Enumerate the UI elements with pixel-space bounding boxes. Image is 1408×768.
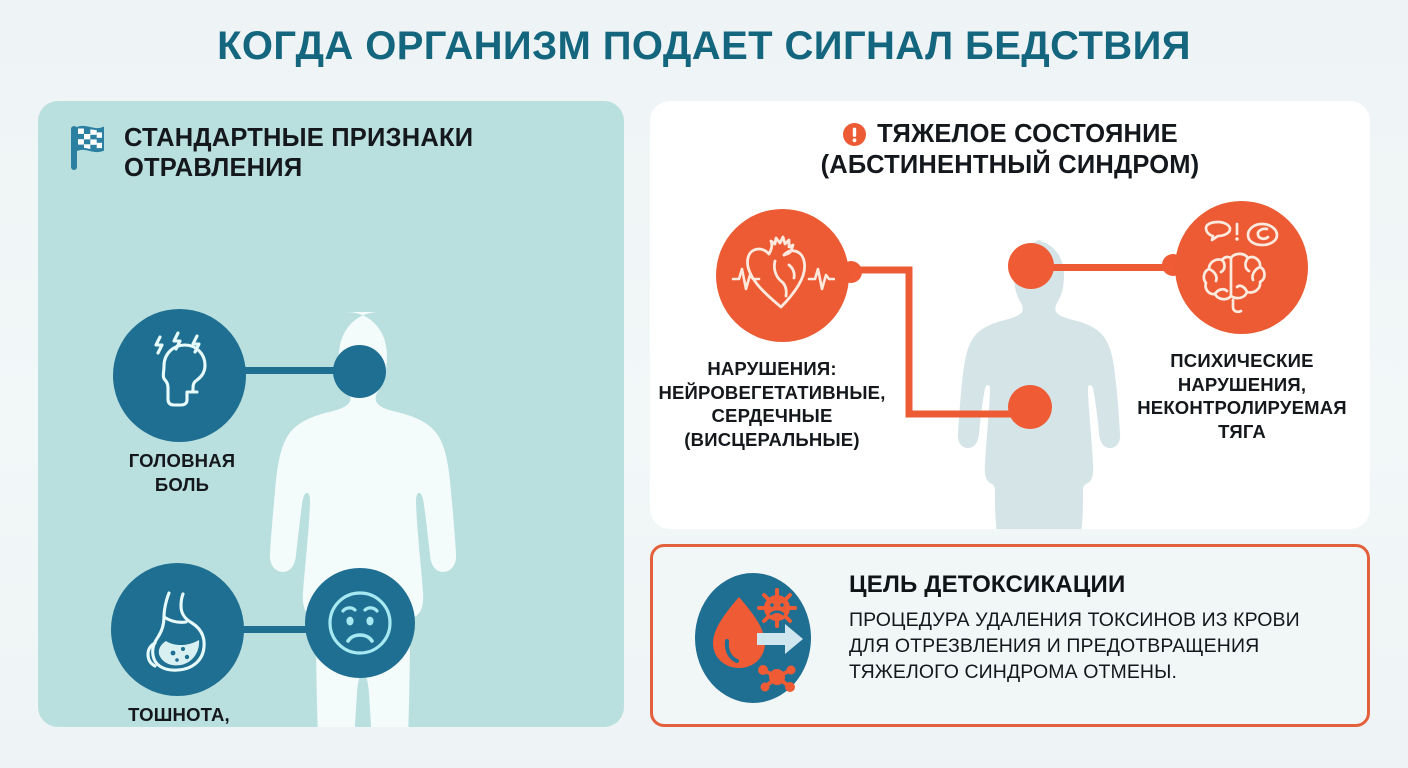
- right-panel-header: ТЯЖЕЛОЕ СОСТОЯНИЕ (АБСТИНЕНТНЫЙ СИНДРОМ): [650, 119, 1370, 180]
- body-marker-sad-face: [305, 568, 415, 678]
- sad-face-icon: [321, 584, 399, 662]
- icon-bubble-headache[interactable]: [113, 309, 246, 442]
- connector-brain: [1050, 260, 1176, 274]
- left-panel-header-text: СТАНДАРТНЫЕ ПРИЗНАКИ ОТРАВЛЕНИЯ: [124, 123, 473, 183]
- body-marker-head-right: [1008, 243, 1054, 289]
- detox-title: ЦЕЛЬ ДЕТОКСИКАЦИИ: [849, 571, 1354, 599]
- infographic-canvas: КОГДА ОРГАНИЗМ ПОДАЕТ СИГНАЛ БЕДСТВИЯ: [0, 0, 1408, 768]
- right-panel-header-line1: ТЯЖЕЛОЕ СОСТОЯНИЕ: [877, 119, 1178, 150]
- icon-bubble-brain[interactable]: [1175, 201, 1308, 334]
- panel-standard-poisoning-signs: СТАНДАРТНЫЕ ПРИЗНАКИ ОТРАВЛЕНИЯ ГОЛОВНАЯ…: [38, 101, 624, 727]
- brain-thoughts-icon: [1192, 220, 1292, 316]
- blood-drop-detox-icon: [695, 573, 811, 703]
- panel-severe-condition: ТЯЖЕЛОЕ СОСТОЯНИЕ (АБСТИНЕНТНЫЙ СИНДРОМ): [650, 101, 1370, 529]
- checkered-flag-icon: [68, 123, 110, 171]
- label-headache: ГОЛОВНАЯ БОЛЬ: [93, 449, 271, 496]
- right-panel-header-line2: (АБСТИНЕНТНЫЙ СИНДРОМ): [650, 150, 1370, 181]
- alert-exclamation-icon: [842, 122, 867, 147]
- left-panel-header: СТАНДАРТНЫЕ ПРИЗНАКИ ОТРАВЛЕНИЯ: [68, 123, 473, 183]
- detox-text-block: ЦЕЛЬ ДЕТОКСИКАЦИИ ПРОЦЕДУРА УДАЛЕНИЯ ТОК…: [849, 571, 1354, 686]
- detox-goal-box: ЦЕЛЬ ДЕТОКСИКАЦИИ ПРОЦЕДУРА УДАЛЕНИЯ ТОК…: [650, 544, 1370, 727]
- icon-bubble-stomach[interactable]: [111, 563, 244, 696]
- heart-ecg-icon: [731, 231, 835, 321]
- detox-body: ПРОЦЕДУРА УДАЛЕНИЯ ТОКСИНОВ ИЗ КРОВИ ДЛЯ…: [849, 608, 1354, 686]
- icon-bubble-heart[interactable]: [716, 209, 849, 342]
- body-marker-chest: [1008, 385, 1052, 429]
- headache-head-icon: [134, 330, 226, 422]
- stomach-icon: [131, 583, 225, 677]
- body-marker-head-left: [333, 345, 386, 398]
- page-title: КОГДА ОРГАНИЗМ ПОДАЕТ СИГНАЛ БЕДСТВИЯ: [0, 24, 1408, 69]
- label-mental-disorders: ПСИХИЧЕСКИЕ НАРУШЕНИЯ, НЕКОНТРОЛИРУЕМАЯ …: [1102, 349, 1370, 444]
- detox-icon-circle: [695, 573, 811, 703]
- label-nausea: ТОШНОТА, РВОТА: [90, 703, 268, 727]
- label-visceral-disorders: НАРУШЕНИЯ: НЕЙРОВЕГЕТАТИВНЫЕ, СЕРДЕЧНЫЕ …: [650, 357, 908, 452]
